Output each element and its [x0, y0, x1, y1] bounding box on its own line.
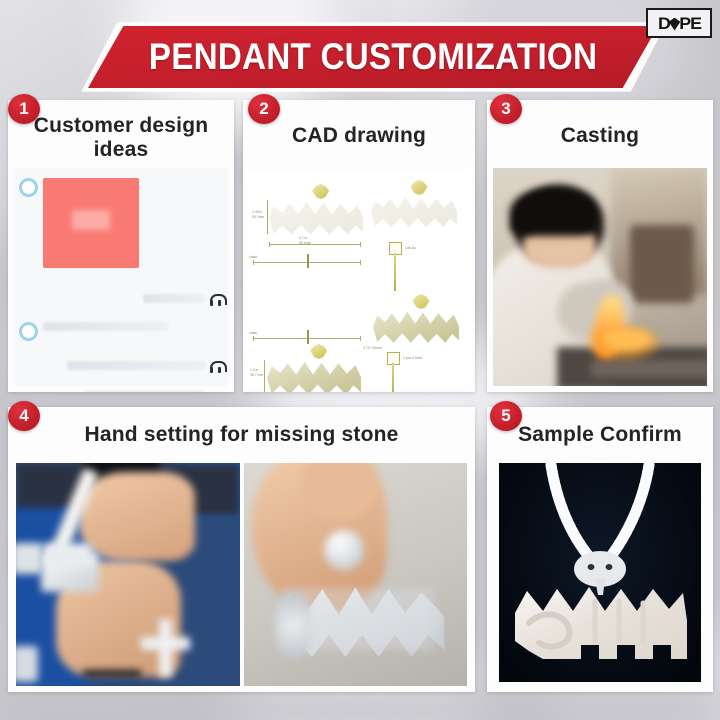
- chat-row-left-1: [14, 322, 228, 341]
- step-panel-1: Customer design ideas: [8, 100, 234, 392]
- step-title-1: Customer design ideas: [8, 100, 234, 163]
- iced-ball: [324, 530, 364, 570]
- step-panel-3: Casting: [487, 100, 713, 392]
- step-badge-3: 3: [490, 94, 522, 124]
- step-panel-2: CAD drawing 1.40 in35.7mm 3.7 in94.1mm c…: [243, 100, 475, 392]
- step-panel-4: Hand setting for missing stone: [8, 407, 475, 692]
- chat-row-right-2: [14, 361, 228, 373]
- step-badge-1: 1: [8, 94, 40, 124]
- cad-pendant-front: [269, 196, 363, 238]
- support-headset-avatar: [210, 294, 223, 306]
- step-badge-4: 4: [8, 401, 40, 431]
- title-banner: PENDANT CUSTOMIZATION: [88, 26, 658, 88]
- step-badge-2: 2: [248, 94, 280, 124]
- support-headset-avatar: [210, 361, 223, 373]
- necklace-chain: [499, 463, 701, 682]
- cad-bail-icon: [312, 184, 329, 199]
- customer-avatar: [19, 178, 38, 197]
- chat-row-right-1: [14, 294, 228, 306]
- page-title: PENDANT CUSTOMIZATION: [117, 26, 630, 88]
- step-panel-5: Sample Confirm: [487, 407, 713, 692]
- step-title-4: Hand setting for missing stone: [8, 407, 475, 447]
- casting-photo: [493, 168, 707, 386]
- cad-render: 1.40 in35.7mm 3.7 in94.1mm chain 14K Au …: [247, 170, 471, 386]
- iced-name-pendant-sample: [515, 587, 687, 659]
- cad-pendant-gold-left: [267, 356, 361, 392]
- chat-screenshot: [14, 168, 228, 386]
- logo-text-left: D: [657, 14, 669, 33]
- chat-row-image: [14, 168, 228, 268]
- sample-photo: [499, 463, 701, 682]
- cad-pendant-ghost: [371, 192, 457, 230]
- step-badge-5: 5: [490, 401, 522, 431]
- hand-upper: [79, 472, 195, 561]
- design-reference-image: [43, 178, 139, 268]
- finished-pendant-photo: [244, 463, 468, 686]
- stone-setting-photo: [16, 463, 240, 686]
- logo-text-right: PE: [679, 14, 701, 33]
- cad-pendant-gold-right: [373, 306, 459, 346]
- customer-avatar: [19, 322, 38, 341]
- dope-logo: DPE: [646, 8, 712, 38]
